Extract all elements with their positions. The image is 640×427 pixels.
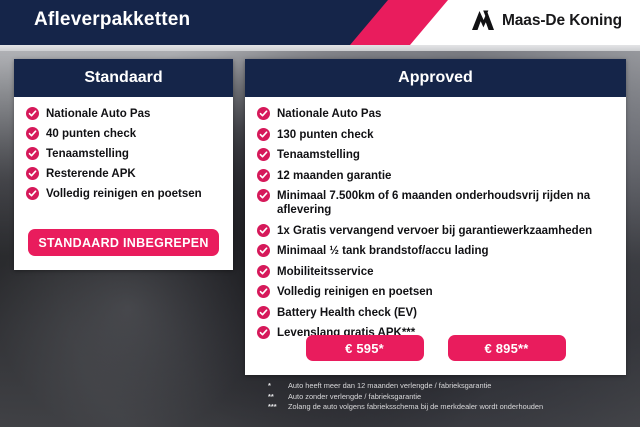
feature-text: Tenaamstelling <box>46 147 129 161</box>
feature-text: Minimaal ½ tank brandstof/accu lading <box>277 244 489 258</box>
list-item: Tenaamstelling <box>26 147 221 161</box>
list-item: Volledig reinigen en poetsen <box>257 285 614 299</box>
page-title: Afleverpakketten <box>34 9 190 31</box>
check-circle-icon <box>257 265 270 278</box>
card-title-approved: Approved <box>245 59 626 97</box>
footnote-text: Zolang de auto volgens fabrieksschema bi… <box>288 402 543 413</box>
package-card-standaard: Standaard Nationale Auto Pas 40 punten c… <box>14 59 233 270</box>
check-circle-icon <box>26 187 39 200</box>
price-button-895[interactable]: € 895** <box>448 335 566 361</box>
list-item: Nationale Auto Pas <box>257 107 614 121</box>
footnote-text: Auto zonder verlengde / fabrieksgarantie <box>288 392 421 403</box>
price-button-595[interactable]: € 595* <box>306 335 424 361</box>
brand-logo: Maas-De Koning <box>471 10 622 31</box>
check-circle-icon <box>257 128 270 141</box>
footnote-row: ** Auto zonder verlengde / fabrieksgaran… <box>268 392 628 403</box>
footnote-marker: * <box>268 381 288 392</box>
check-circle-icon <box>26 107 39 120</box>
check-circle-icon <box>26 127 39 140</box>
footnote-row: * Auto heeft meer dan 12 maanden verleng… <box>268 381 628 392</box>
check-circle-icon <box>257 169 270 182</box>
card-title-standaard: Standaard <box>14 59 233 97</box>
page-root: Afleverpakketten Maas-De Koning Standaar… <box>0 0 640 427</box>
list-item: Minimaal ½ tank brandstof/accu lading <box>257 244 614 258</box>
list-item: Battery Health check (EV) <box>257 306 614 320</box>
header-underline-strip <box>0 45 640 51</box>
feature-text: 130 punten check <box>277 128 374 142</box>
list-item: 40 punten check <box>26 127 221 141</box>
feature-text: Mobiliteitsservice <box>277 265 374 279</box>
check-circle-icon <box>257 306 270 319</box>
check-circle-icon <box>257 107 270 120</box>
feature-list-standaard: Nationale Auto Pas 40 punten check Tenaa… <box>26 107 221 201</box>
check-circle-icon <box>257 244 270 257</box>
check-circle-icon <box>257 285 270 298</box>
footnote-row: *** Zolang de auto volgens fabrieksschem… <box>268 402 628 413</box>
check-circle-icon <box>257 148 270 161</box>
page-header: Afleverpakketten Maas-De Koning <box>0 0 640 45</box>
footnote-marker: ** <box>268 392 288 403</box>
list-item: Tenaamstelling <box>257 148 614 162</box>
maas-de-koning-m-logo-icon <box>471 10 495 31</box>
brand-name: Maas-De Koning <box>502 12 622 30</box>
feature-text: Battery Health check (EV) <box>277 306 417 320</box>
card-body-approved: Nationale Auto Pas 130 punten check Tena… <box>245 97 626 340</box>
feature-text: Tenaamstelling <box>277 148 360 162</box>
list-item: Volledig reinigen en poetsen <box>26 187 221 201</box>
check-circle-icon <box>26 147 39 160</box>
feature-text: Volledig reinigen en poetsen <box>46 187 202 201</box>
list-item: Mobiliteitsservice <box>257 265 614 279</box>
footnotes: * Auto heeft meer dan 12 maanden verleng… <box>268 381 628 413</box>
feature-text: Nationale Auto Pas <box>46 107 150 121</box>
list-item: Resterende APK <box>26 167 221 181</box>
check-circle-icon <box>257 189 270 202</box>
footnote-marker: *** <box>268 402 288 413</box>
list-item: Minimaal 7.500km of 6 maanden onderhouds… <box>257 189 614 217</box>
check-circle-icon <box>26 167 39 180</box>
list-item: 1x Gratis vervangend vervoer bij garanti… <box>257 224 614 238</box>
list-item: Nationale Auto Pas <box>26 107 221 121</box>
check-circle-icon <box>257 224 270 237</box>
feature-text: 40 punten check <box>46 127 136 141</box>
list-item: 130 punten check <box>257 128 614 142</box>
feature-text: Volledig reinigen en poetsen <box>277 285 433 299</box>
feature-text: Nationale Auto Pas <box>277 107 381 121</box>
card-body-standaard: Nationale Auto Pas 40 punten check Tenaa… <box>14 97 233 201</box>
list-item: 12 maanden garantie <box>257 169 614 183</box>
feature-text: 1x Gratis vervangend vervoer bij garanti… <box>277 224 592 238</box>
package-card-approved: Approved Nationale Auto Pas 130 punten c… <box>245 59 626 375</box>
feature-text: Minimaal 7.500km of 6 maanden onderhouds… <box>277 189 614 217</box>
feature-text: 12 maanden garantie <box>277 169 391 183</box>
feature-list-approved: Nationale Auto Pas 130 punten check Tena… <box>257 107 614 340</box>
price-button-row: € 595* € 895** <box>245 335 626 361</box>
standaard-inbegrepen-button[interactable]: STANDAARD INBEGREPEN <box>28 229 219 256</box>
footnote-text: Auto heeft meer dan 12 maanden verlengde… <box>288 381 491 392</box>
feature-text: Resterende APK <box>46 167 136 181</box>
